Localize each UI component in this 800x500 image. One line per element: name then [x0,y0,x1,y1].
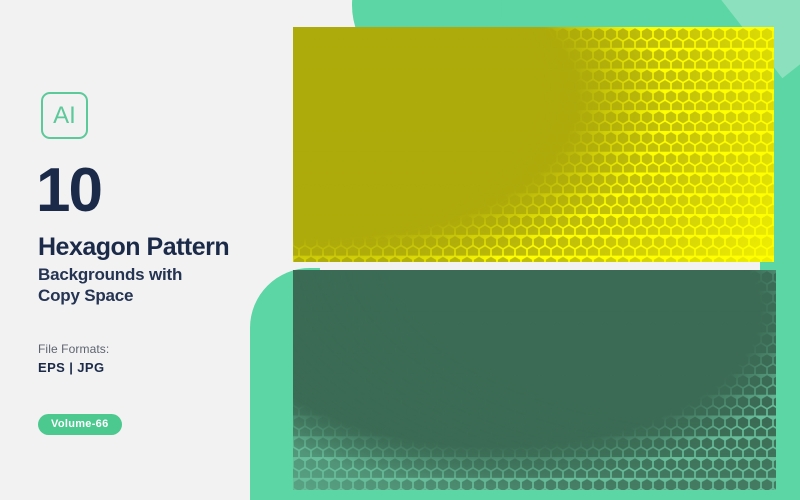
page-title: Hexagon Pattern [38,234,229,260]
yellow-hexagon-svg [293,27,774,262]
info-column: AI 10 Hexagon Pattern Backgrounds with C… [0,0,290,500]
file-formats-value: EPS | JPG [38,360,105,375]
ai-file-format-icon: AI [41,92,88,139]
item-count: 10 [36,160,101,222]
yellow-halftone-pattern [293,27,774,262]
file-formats-label: File Formats: [38,342,109,356]
ai-badge-label: AI [53,104,76,128]
green-halftone-pattern [293,270,776,490]
yellow-hexagon-halftone-preview[interactable] [293,27,774,262]
page-subtitle-line-1: Backgrounds with [38,264,182,285]
page-subtitle: Backgrounds with Copy Space [38,264,182,307]
poster-canvas: AI 10 Hexagon Pattern Backgrounds with C… [0,0,800,500]
page-subtitle-line-2: Copy Space [38,285,182,306]
green-hexagon-halftone-preview[interactable] [293,270,776,490]
volume-badge: Volume-66 [38,414,122,435]
green-hexagon-svg [293,270,776,490]
